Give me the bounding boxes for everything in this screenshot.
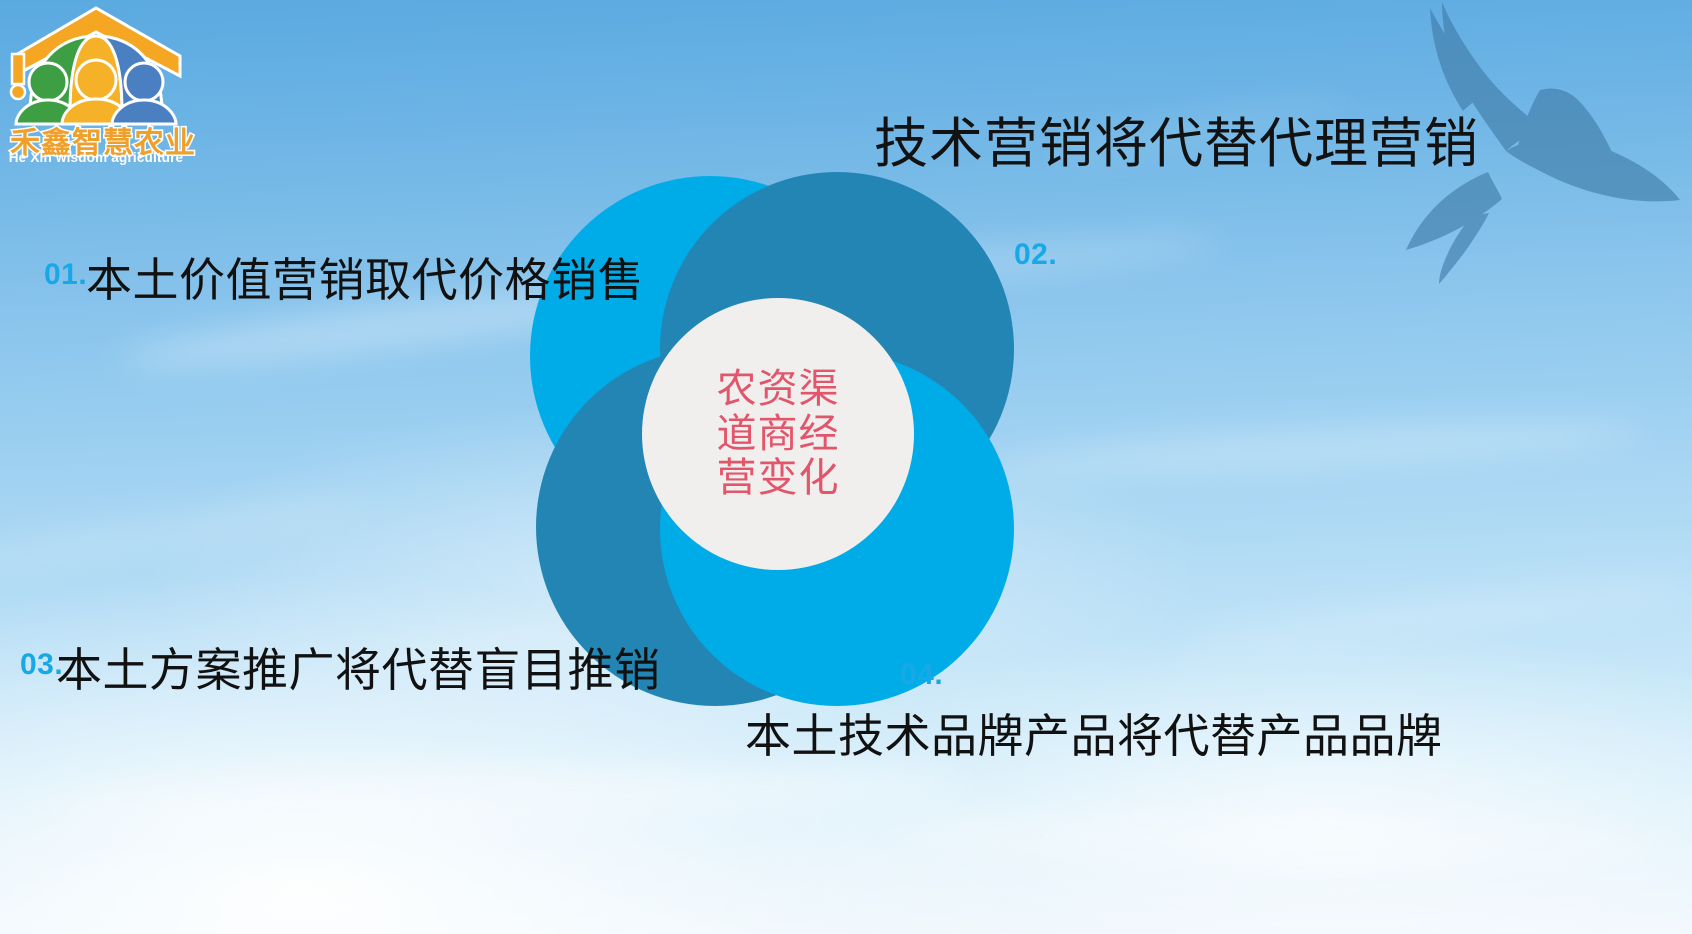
item-02-number: 02. bbox=[1014, 238, 1057, 272]
center-line-3: 营变化 bbox=[717, 456, 840, 501]
slide-title: 技术营销将代替代理营销 bbox=[874, 116, 1479, 173]
item-03-text: 本土方案推广将代替盲目推销 bbox=[56, 634, 661, 700]
logo-english-name: He Xin wisdom agriculture bbox=[8, 150, 184, 165]
diagram-center-circle: 农资渠 道商经 营变化 bbox=[642, 298, 914, 570]
center-line-1: 农资渠 bbox=[717, 367, 840, 412]
center-line-2: 道商经 bbox=[717, 412, 840, 457]
item-04-number: 04. bbox=[900, 658, 943, 692]
company-logo: 禾鑫智慧农业 He Xin wisdom agriculture bbox=[4, 2, 190, 174]
item-01-text: 本土价值营销取代价格销售 bbox=[86, 244, 644, 310]
item-01-number: 01. bbox=[44, 258, 87, 292]
slide-canvas: 禾鑫智慧农业 He Xin wisdom agriculture 技术营销将代替… bbox=[0, 0, 1692, 934]
diagram-center-label: 农资渠 道商经 营变化 bbox=[717, 367, 840, 501]
item-04-text: 本土技术品牌产品将代替产品品牌 bbox=[745, 700, 1443, 766]
